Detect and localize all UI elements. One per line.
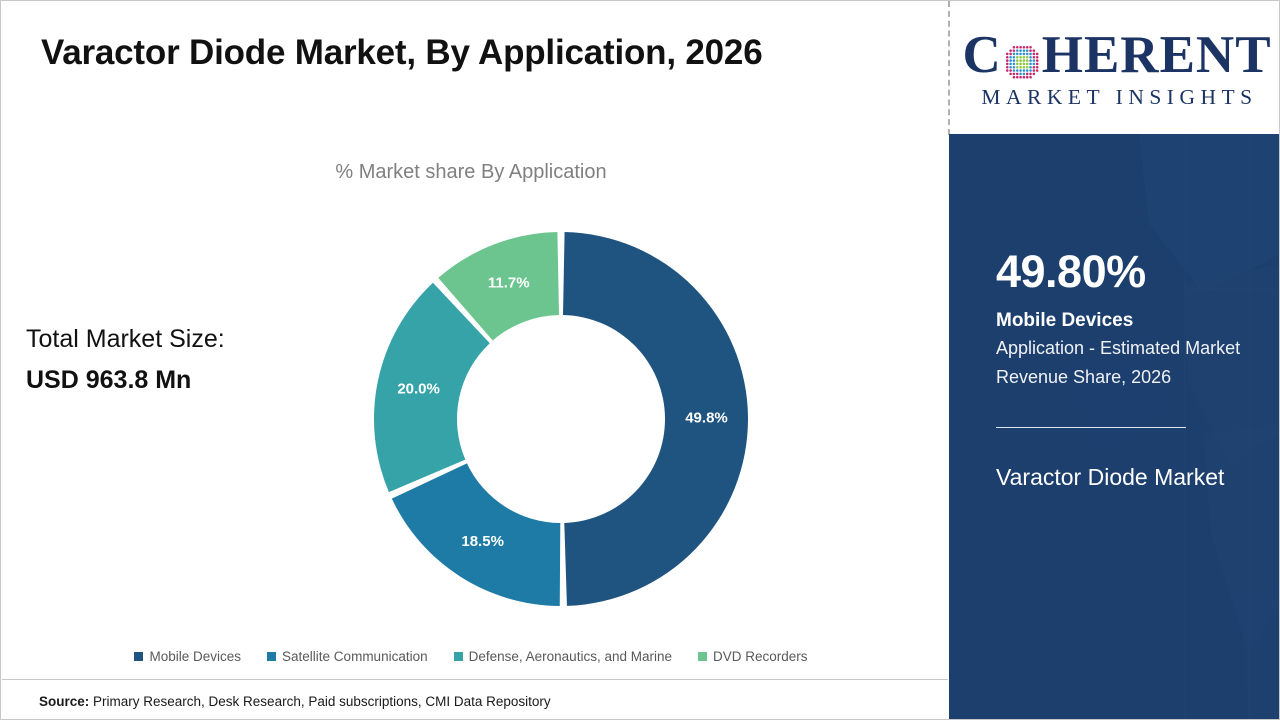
globe-dots-icon (1003, 38, 1041, 76)
legend-label: Satellite Communication (282, 649, 428, 664)
legend-swatch-icon (134, 652, 143, 661)
source-label: Source: (39, 694, 89, 709)
highlight-panel-divider (996, 427, 1186, 428)
donut-chart: 49.8%18.5%20.0%11.7% (374, 232, 748, 606)
brand-name-part1: C (962, 29, 1001, 82)
legend-swatch-icon (454, 652, 463, 661)
legend-item[interactable]: Satellite Communication (267, 649, 428, 664)
infographic-canvas: Varactor Diode Market, By Application, 2… (0, 0, 1280, 720)
legend-label: DVD Recorders (713, 649, 808, 664)
legend-item[interactable]: Mobile Devices (134, 649, 241, 664)
legend-item[interactable]: DVD Recorders (698, 649, 808, 664)
brand-name-part2: HERENT (1042, 29, 1272, 82)
donut-slice-label: 20.0% (397, 381, 440, 398)
donut-chart-svg: 49.8%18.5%20.0%11.7% (374, 232, 748, 606)
donut-slice-label: 11.7% (488, 275, 530, 292)
chart-legend: Mobile DevicesSatellite CommunicationDef… (1, 649, 941, 664)
legend-swatch-icon (698, 652, 707, 661)
vertical-dashed-divider (948, 1, 950, 135)
highlight-description: Application - Estimated Market Revenue S… (996, 334, 1246, 392)
brand-tagline: MARKET INSIGHTS (976, 85, 1257, 110)
highlight-panel: 49.80% Mobile Devices Application - Esti… (949, 134, 1280, 720)
brand-logo: C HERENT MARKET INSIGHTS (957, 19, 1277, 119)
total-market-size-value: USD 963.8 Mn (26, 366, 191, 395)
total-market-size-label: Total Market Size: (26, 325, 225, 354)
highlight-percentage: 49.80% (996, 249, 1246, 294)
donut-slice-label: 49.8% (685, 410, 728, 427)
page-title: Varactor Diode Market, By Application, 2… (41, 33, 762, 73)
highlight-market-name: Varactor Diode Market (996, 456, 1246, 500)
donut-slice-label: 18.5% (461, 533, 504, 550)
legend-label: Defense, Aeronautics, and Marine (469, 649, 672, 664)
brand-name: C HERENT (962, 29, 1271, 82)
footer-divider (2, 679, 948, 680)
source-text: Primary Research, Desk Research, Paid su… (89, 694, 550, 709)
legend-item[interactable]: Defense, Aeronautics, and Marine (454, 649, 672, 664)
legend-label: Mobile Devices (149, 649, 241, 664)
highlight-segment-name: Mobile Devices (996, 309, 1246, 333)
highlight-panel-content: 49.80% Mobile Devices Application - Esti… (996, 249, 1246, 500)
source-note: Source: Primary Research, Desk Research,… (39, 694, 551, 709)
chart-subtitle: % Market share By Application (1, 161, 941, 184)
legend-swatch-icon (267, 652, 276, 661)
